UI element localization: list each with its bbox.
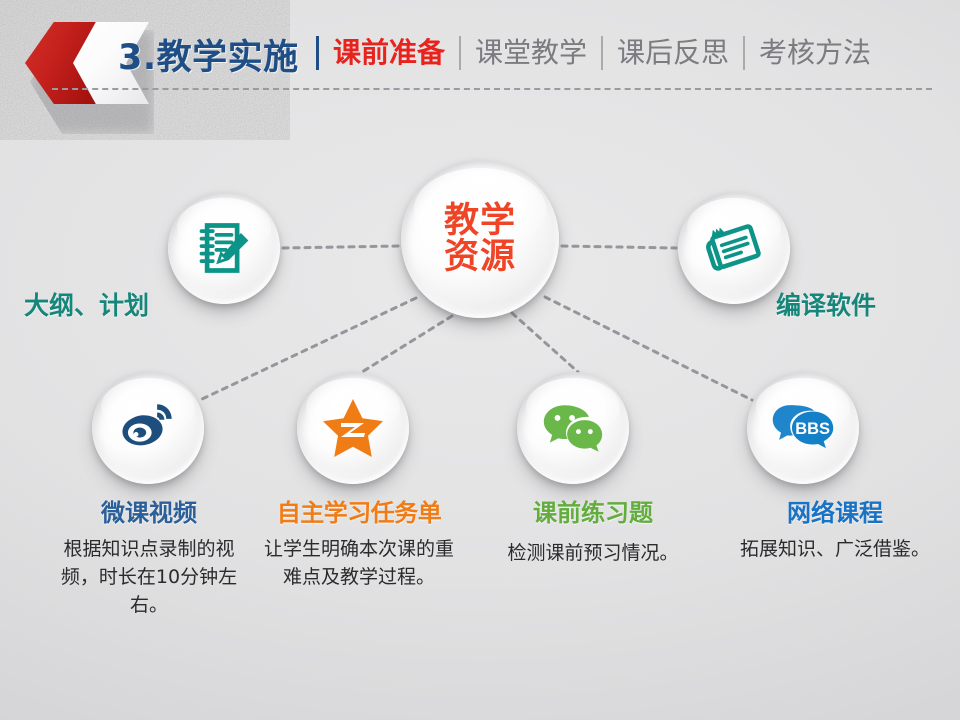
tab-pre-class-preparation[interactable]: 课前准备 <box>319 33 459 73</box>
page-title: 3.教学实施 <box>118 29 299 80</box>
connector-center-compiler <box>562 246 676 248</box>
center-node-label-line1: 教学 <box>444 203 516 239</box>
slide-canvas: 3.教学实施 课前准备 课堂教学 课后反思 考核方法 <box>0 0 960 720</box>
block-title: 课前练习题 <box>486 498 700 528</box>
node-self-study-task-sheet[interactable] <box>297 372 409 484</box>
block-micro-lesson-video: 微课视频 根据知识点录制的视频，时长在10分钟左右。 <box>42 498 256 619</box>
bbs-label: BBS <box>795 420 830 438</box>
node-compiler-software[interactable] <box>678 192 790 304</box>
header-divider <box>52 88 932 90</box>
tab-classroom-teaching[interactable]: 课堂教学 <box>461 33 601 73</box>
label-syllabus-plan: 大纲、计划 <box>24 286 149 322</box>
block-description: 拓展知识、广泛借鉴。 <box>728 535 942 563</box>
connector-center-qzone <box>362 316 452 372</box>
block-description: 根据知识点录制的视频，时长在10分钟左右。 <box>42 535 256 619</box>
tab-assessment-method[interactable]: 考核方法 <box>745 33 885 73</box>
block-self-study-task-sheet: 自主学习任务单 让学生明确本次课的重难点及教学过程。 <box>252 498 466 591</box>
newspaper-icon <box>705 219 763 277</box>
node-pre-class-exercises[interactable] <box>517 372 629 484</box>
resource-hub-diagram: 教学 资源 <box>0 100 960 720</box>
section-tabs: 课前准备 课堂教学 课后反思 考核方法 <box>316 33 885 73</box>
node-online-course[interactable]: BBS <box>747 372 859 484</box>
block-description: 让学生明确本次课的重难点及教学过程。 <box>252 535 466 591</box>
node-syllabus-plan[interactable] <box>168 192 280 304</box>
center-node-label-line2: 资源 <box>444 239 516 275</box>
qzone-star-icon <box>321 397 385 459</box>
wechat-logo-icon <box>542 400 604 456</box>
block-title: 微课视频 <box>42 498 256 528</box>
block-title: 网络课程 <box>728 498 942 528</box>
bbs-bubble-icon: BBS <box>770 399 836 457</box>
weibo-logo-icon <box>117 400 179 456</box>
center-node-teaching-resources[interactable]: 教学 资源 <box>401 160 559 318</box>
block-title: 自主学习任务单 <box>252 498 466 528</box>
block-online-course: 网络课程 拓展知识、广泛借鉴。 <box>728 498 942 563</box>
slide-header: 3.教学实施 课前准备 课堂教学 课后反思 考核方法 <box>0 0 960 100</box>
block-description: 检测课前预习情况。 <box>486 539 700 567</box>
connector-center-outline <box>282 246 398 248</box>
center-node-label: 教学 资源 <box>444 203 516 276</box>
label-compiler-software: 编译软件 <box>776 286 876 322</box>
tab-post-class-reflection[interactable]: 课后反思 <box>603 33 743 73</box>
node-micro-lesson-video[interactable] <box>92 372 204 484</box>
block-pre-class-exercises: 课前练习题 检测课前预习情况。 <box>486 498 700 567</box>
notepad-pencil-icon <box>194 218 254 278</box>
connector-center-wechat <box>512 313 578 372</box>
